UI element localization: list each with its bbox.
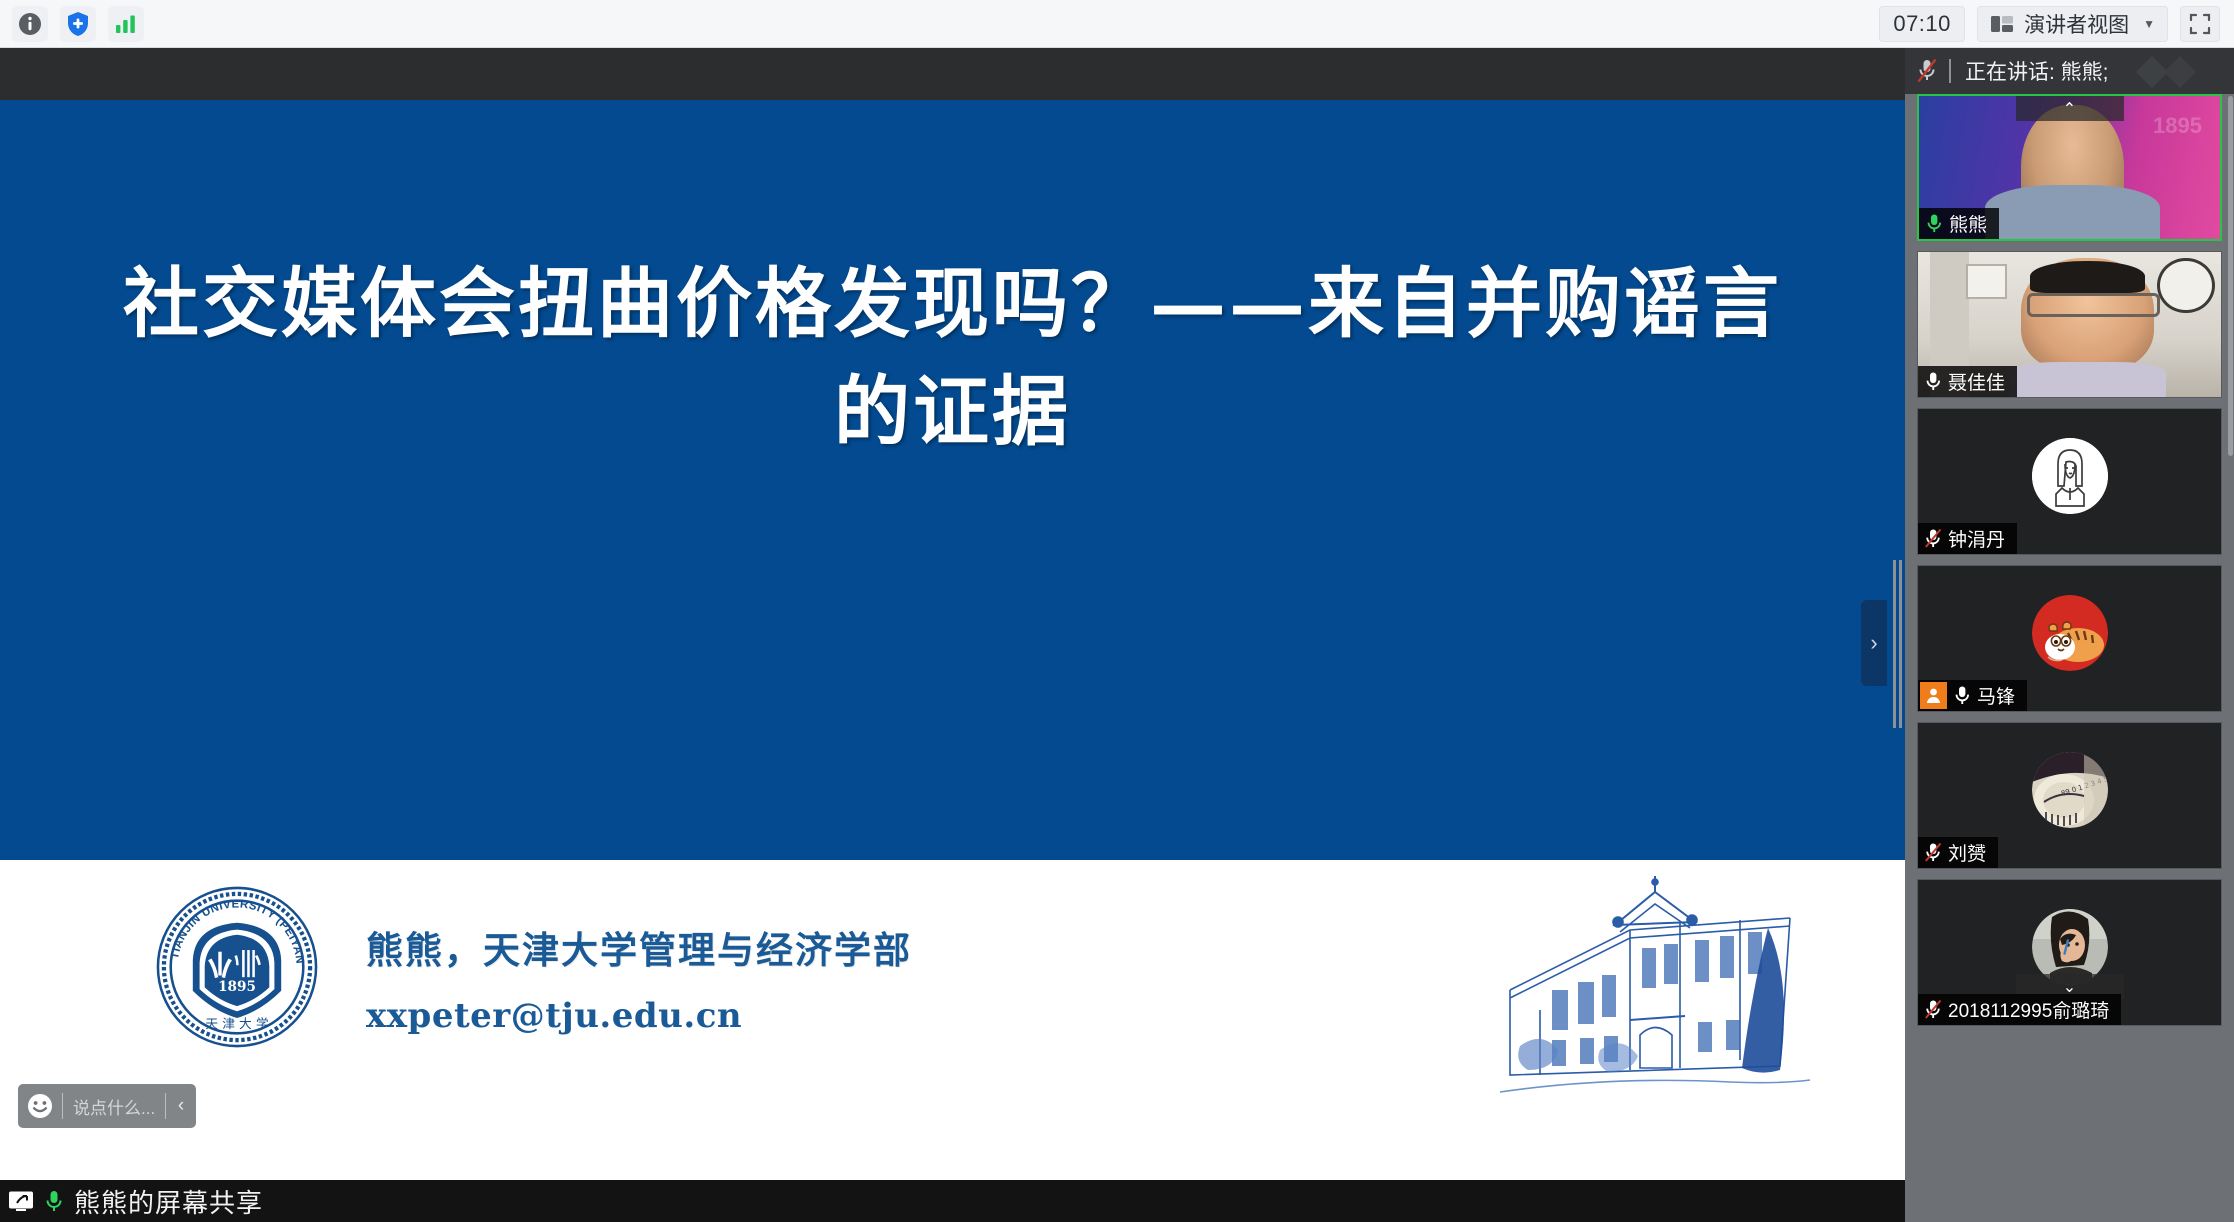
microphone-icon <box>1919 213 1949 234</box>
view-mode-label: 演讲者视图 <box>2024 9 2129 39</box>
participant-name: 熊熊 <box>1949 210 1987 237</box>
participant-name: 聂佳佳 <box>1948 368 2005 395</box>
line-art-woman-avatar <box>2032 438 2108 514</box>
meeting-timer: 07:10 <box>1879 6 1965 42</box>
seal-year: 1895 <box>218 979 256 995</box>
author-name-affiliation: 熊熊，天津大学管理与经济学部 <box>366 920 912 974</box>
active-speaker-text: 正在讲话: 熊熊; <box>1965 56 2109 86</box>
participant-nametag: 聂佳佳 <box>1918 366 2017 397</box>
participant-name: 2018112995俞璐琦 <box>1948 996 2109 1023</box>
chevron-down-icon: ▼ <box>2143 17 2155 31</box>
muted-microphone-icon <box>1918 999 1948 1020</box>
microphone-icon <box>44 1189 64 1213</box>
chat-input-placeholder[interactable]: 说点什么... <box>63 1094 165 1119</box>
muted-microphone-icon <box>1905 58 1949 84</box>
panel-scrollbar[interactable] <box>2228 96 2233 1216</box>
fullscreen-button[interactable] <box>2180 6 2220 42</box>
presentation-slide: 社交媒体会扭曲价格发现吗？——来自并购谣言的证据 <box>0 100 1905 1180</box>
toolbar-left-icons <box>0 6 144 42</box>
composer-collapse-icon[interactable]: ‹ <box>166 1095 196 1117</box>
participant-name: 马锋 <box>1977 682 2015 709</box>
network-signal-icon[interactable] <box>108 6 144 42</box>
campus-building-illustration <box>1480 870 1820 1120</box>
tiger-avatar <box>2032 595 2108 671</box>
participant-nametag: 熊熊 <box>1919 208 1999 239</box>
active-speaker-banner: 正在讲话: 熊熊; <box>1905 48 2234 94</box>
emoji-icon[interactable] <box>18 1093 62 1119</box>
panel-divider <box>1893 560 1902 728</box>
participant-name: 钟涓丹 <box>1948 525 2005 552</box>
microphone-icon <box>1947 685 1977 706</box>
participant-tiles[interactable]: 1895 ⌃ 熊熊 <box>1905 94 2234 1222</box>
participant-nametag: 2018112995俞璐琦 <box>1918 994 2121 1025</box>
avatar <box>2032 595 2108 671</box>
author-block: 熊熊，天津大学管理与经济学部 xxpeter@tju.edu.cn <box>366 920 912 1036</box>
participant-tile[interactable]: ⌄ 2018112995俞璐琦 <box>1917 879 2222 1026</box>
participant-nametag: 刘赟 <box>1918 837 1998 868</box>
chat-composer[interactable]: 说点什么... ‹ <box>18 1084 196 1128</box>
participant-tile[interactable]: 聂佳佳 <box>1917 251 2222 398</box>
view-mode-dropdown[interactable]: 演讲者视图 ▼ <box>1977 6 2168 42</box>
participant-tile[interactable]: 89 0 1 2 3 4 5 6 7 刘赟 <box>1917 722 2222 869</box>
shared-screen-area: 社交媒体会扭曲价格发现吗？——来自并购谣言的证据 <box>0 48 1905 1180</box>
top-toolbar: 07:10 演讲者视图 ▼ <box>0 0 2234 48</box>
speaker-view-icon <box>1990 13 2014 35</box>
microphone-icon <box>1918 371 1948 392</box>
muted-microphone-icon <box>1918 842 1948 863</box>
slide-footer-band: 1895 天 津 大 学 TIANJIN UNIVERSITY (PEIYANG… <box>0 860 1905 1180</box>
info-icon[interactable] <box>12 6 48 42</box>
slide-title: 社交媒体会扭曲价格发现吗？——来自并购谣言的证据 <box>110 250 1795 466</box>
participants-panel: 正在讲话: 熊熊; 1895 ⌃ 熊熊 <box>1905 48 2234 1222</box>
share-owner-label: 熊熊的屏幕共享 <box>74 1183 263 1220</box>
toolbar-right-controls: 07:10 演讲者视图 ▼ <box>1879 6 2234 42</box>
shield-plus-icon[interactable] <box>60 6 96 42</box>
meeting-window: 07:10 演讲者视图 ▼ 社交媒体会扭曲价格发现吗？——来自并购谣言的证据 <box>0 0 2234 1222</box>
avatar <box>2032 438 2108 514</box>
participant-nametag: 马锋 <box>1918 680 2027 711</box>
participant-tile[interactable]: 马锋 <box>1917 565 2222 712</box>
participant-nametag: 钟涓丹 <box>1918 523 2017 554</box>
screen-share-status-bar: 熊熊的屏幕共享 <box>0 1180 1905 1222</box>
fullscreen-icon <box>2189 13 2211 35</box>
participant-name: 刘赟 <box>1948 839 1986 866</box>
slide-title-band: 社交媒体会扭曲价格发现吗？——来自并购谣言的证据 <box>0 100 1905 860</box>
seal-cn-text: 天 津 大 学 <box>205 1016 268 1032</box>
app-watermark-icon <box>2130 50 2234 94</box>
dial-photo-avatar: 89 0 1 2 3 4 5 6 7 <box>2032 752 2108 828</box>
screen-share-icon <box>8 1190 34 1212</box>
participant-tile[interactable]: 1895 ⌃ 熊熊 <box>1917 94 2222 241</box>
panel-collapse-handle[interactable]: › <box>1861 600 1887 686</box>
participant-tile[interactable]: 钟涓丹 <box>1917 408 2222 555</box>
avatar: 89 0 1 2 3 4 5 6 7 <box>2032 752 2108 828</box>
author-email: xxpeter@tju.edu.cn <box>366 996 912 1036</box>
scroll-up-button[interactable]: ⌃ <box>2016 96 2124 121</box>
host-badge-icon <box>1920 682 1947 709</box>
banner-divider <box>1949 59 1951 83</box>
tianjin-university-seal: 1895 天 津 大 学 TIANJIN UNIVERSITY (PEIYANG… <box>152 882 322 1052</box>
muted-microphone-icon <box>1918 528 1948 549</box>
